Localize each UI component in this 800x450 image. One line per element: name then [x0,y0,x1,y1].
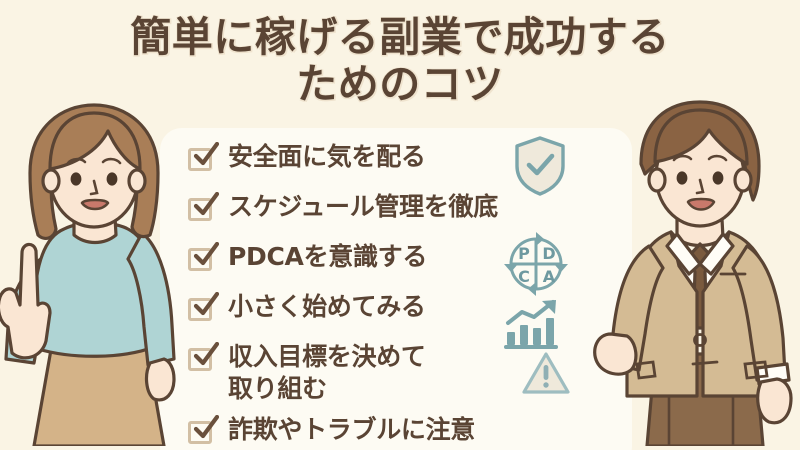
list-item[interactable]: PDCAを意識する [188,238,588,282]
list-item[interactable]: スケジュール管理を徹底 [188,188,588,232]
illustration-woman-pointing [0,101,194,450]
list-item-label: PDCAを意識する [228,238,427,273]
list-item-label: 安全面に気を配る [228,138,426,173]
page-title: 簡単に稼げる副業で成功する ためのコツ [0,14,800,108]
list-item[interactable]: 収入目標を決めて 取り組む [188,338,588,405]
page-title-line-1: 簡単に稼げる副業で成功する [0,14,800,61]
illustration-man-suit [593,96,800,450]
list-item-label: 収入目標を決めて 取り組む [228,338,426,405]
list-item-label: 詐欺やトラブルに注意 [228,411,475,446]
list-item-label: スケジュール管理を徹底 [228,188,498,223]
checklist: 安全面に気を配る スケジュール管理を徹底 PDCAを意識する 小さく始めてみる [188,138,588,450]
list-item[interactable]: 安全面に気を配る [188,138,588,182]
list-item[interactable]: 詐欺やトラブルに注意 [188,411,588,450]
slide-canvas: 簡単に稼げる副業で成功する ためのコツ P D [0,0,800,450]
list-item-label: 小さく始めてみる [228,288,426,323]
list-item[interactable]: 小さく始めてみる [188,288,588,332]
